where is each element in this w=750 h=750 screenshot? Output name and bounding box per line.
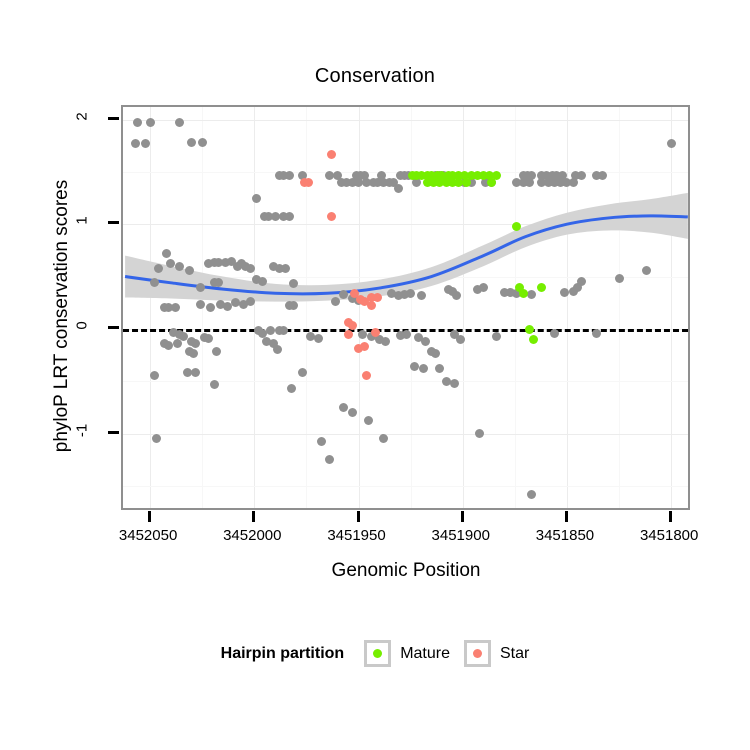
data-point-none xyxy=(285,171,294,180)
data-point-none xyxy=(198,138,207,147)
legend-entry-mature[interactable]: Mature xyxy=(364,640,450,667)
data-point-none xyxy=(146,118,155,127)
data-point-none xyxy=(281,264,290,273)
x-axis-tick xyxy=(252,511,255,522)
x-axis-tick xyxy=(461,511,464,522)
y-axis-tick-label: 2 xyxy=(74,96,91,136)
legend-key-star xyxy=(464,640,491,667)
data-point-none xyxy=(450,379,459,388)
data-point-none xyxy=(479,283,488,292)
data-point-star xyxy=(373,293,382,302)
page-title: Conservation xyxy=(0,65,750,88)
x-axis-tick xyxy=(669,511,672,522)
data-point-none xyxy=(569,178,578,187)
data-point-mature xyxy=(529,335,538,344)
legend: Hairpin partition Mature Star xyxy=(0,640,750,667)
data-point-none xyxy=(348,408,357,417)
data-point-none xyxy=(252,194,261,203)
legend-key-mature xyxy=(364,640,391,667)
data-point-none xyxy=(325,455,334,464)
legend-label-star: Star xyxy=(500,645,529,663)
data-point-none xyxy=(402,330,411,339)
data-point-none xyxy=(525,178,534,187)
legend-title: Hairpin partition xyxy=(221,645,345,663)
data-point-none xyxy=(592,329,601,338)
x-axis-title: Genomic Position xyxy=(121,560,691,582)
data-point-none xyxy=(317,437,326,446)
x-axis-tick-label: 3451900 xyxy=(406,527,516,544)
y-axis-tick-label: 0 xyxy=(74,305,91,345)
data-point-none xyxy=(527,290,536,299)
chart-root: Conservation phyloP LRT conservation sco… xyxy=(0,0,750,750)
data-point-none xyxy=(196,300,205,309)
data-point-none xyxy=(456,335,465,344)
x-axis-tick xyxy=(148,511,151,522)
data-point-none xyxy=(246,297,255,306)
data-point-none xyxy=(175,262,184,271)
data-point-none xyxy=(615,274,624,283)
y-axis-tick xyxy=(108,117,119,120)
data-point-none xyxy=(667,139,676,148)
data-point-none xyxy=(394,184,403,193)
data-point-none xyxy=(452,291,461,300)
y-axis-tick-label: 1 xyxy=(74,201,91,241)
data-point-none xyxy=(204,334,213,343)
legend-dot-mature-icon xyxy=(373,649,382,658)
legend-dot-star-icon xyxy=(473,649,482,658)
data-point-star xyxy=(371,328,380,337)
data-point-star xyxy=(344,330,353,339)
data-point-star xyxy=(304,178,313,187)
x-axis-tick xyxy=(565,511,568,522)
data-point-none xyxy=(173,339,182,348)
data-point-none xyxy=(419,364,428,373)
data-point-none xyxy=(185,266,194,275)
x-axis-tick xyxy=(357,511,360,522)
data-point-none xyxy=(527,490,536,499)
x-axis-tick-label: 3452000 xyxy=(197,527,307,544)
x-axis-tick-label: 3451850 xyxy=(510,527,620,544)
data-point-none xyxy=(175,118,184,127)
y-axis-tick xyxy=(108,431,119,434)
data-point-none xyxy=(298,368,307,377)
data-point-star xyxy=(348,321,357,330)
data-point-none xyxy=(196,283,205,292)
data-point-none xyxy=(381,337,390,346)
data-point-none xyxy=(642,266,651,275)
data-point-none xyxy=(417,291,426,300)
data-point-none xyxy=(550,329,559,338)
data-point-none xyxy=(358,330,367,339)
data-point-star xyxy=(367,301,376,310)
x-axis-tick-label: 3451950 xyxy=(302,527,412,544)
y-axis-title: phyloP LRT conservation scores xyxy=(51,106,73,526)
data-point-none xyxy=(598,171,607,180)
y-axis-tick xyxy=(108,326,119,329)
data-point-mature xyxy=(537,283,546,292)
data-point-none xyxy=(171,303,180,312)
data-point-none xyxy=(421,337,430,346)
data-point-none xyxy=(154,264,163,273)
y-axis-tick-label: -1 xyxy=(74,410,91,450)
y-axis-tick xyxy=(108,221,119,224)
data-point-none xyxy=(246,264,255,273)
legend-entry-star[interactable]: Star xyxy=(464,640,529,667)
data-point-none xyxy=(273,345,282,354)
data-point-none xyxy=(577,171,586,180)
data-point-none xyxy=(492,332,501,341)
data-point-mature xyxy=(519,289,528,298)
data-point-none xyxy=(233,262,242,271)
data-point-none xyxy=(406,289,415,298)
x-axis-tick-label: 3452050 xyxy=(93,527,203,544)
confidence-band xyxy=(125,193,688,302)
plot-panel xyxy=(121,105,690,510)
x-axis-tick-label: 3451800 xyxy=(614,527,724,544)
data-point-none xyxy=(475,429,484,438)
data-point-none xyxy=(210,380,219,389)
legend-label-mature: Mature xyxy=(400,645,450,663)
data-point-star xyxy=(327,150,336,159)
